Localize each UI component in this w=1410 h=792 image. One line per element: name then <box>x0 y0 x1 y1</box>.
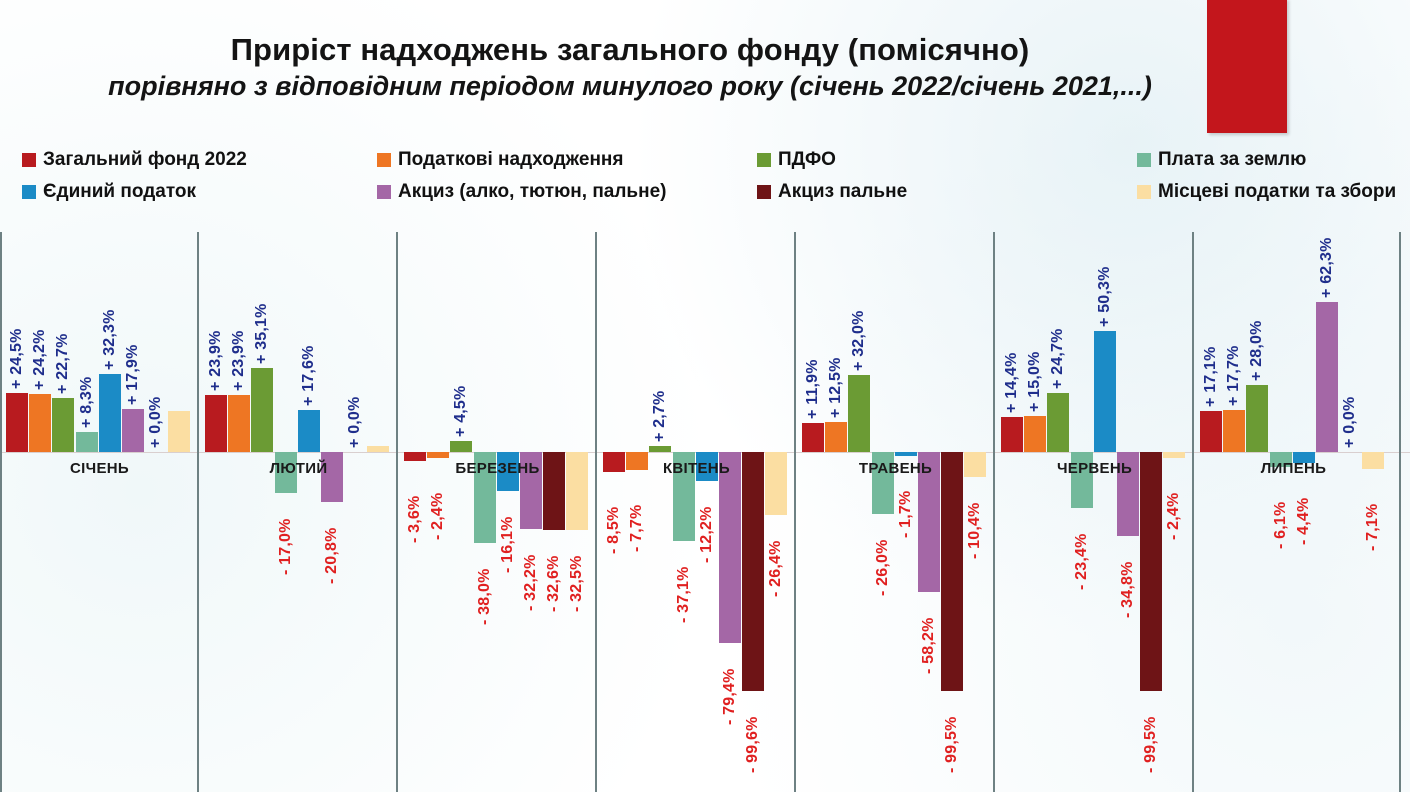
bar-value-label: + 32,3% <box>101 292 119 370</box>
legend-swatch-icon <box>22 185 36 199</box>
bar-value-label: - 26,4% <box>767 519 785 597</box>
page-title: Приріст надходжень загального фонду (пом… <box>0 34 1260 67</box>
bar-value-label: + 11,9% <box>804 341 822 419</box>
bar-slot: - 26,4% <box>765 215 787 792</box>
bar-slot: - 12,2% <box>696 215 718 792</box>
bar-value-label: - 37,1% <box>675 545 693 623</box>
bar-slot: - 2,4% <box>1163 215 1185 792</box>
bar-group-3: - 3,6%- 2,4%+ 4,5%- 38,0%- 16,1%- 32,2%-… <box>398 215 597 792</box>
bar-slot: - 4,4% <box>1293 215 1315 792</box>
bar-group-7: + 17,1%+ 17,7%+ 28,0%- 6,1%- 4,4%+ 62,3%… <box>1194 215 1393 792</box>
bar[interactable] <box>1001 417 1023 452</box>
bar-value-label: + 2,7% <box>651 364 669 442</box>
bar-slot: + 8,3% <box>76 215 98 792</box>
bar-value-label: - 12,2% <box>698 485 716 563</box>
chart-titles: Приріст надходжень загального фонду (пом… <box>0 34 1260 100</box>
bar-value-label: + 24,7% <box>1049 311 1067 389</box>
chart-legend: Загальний фонд 2022 Податкові надходженн… <box>22 144 1397 208</box>
bar[interactable] <box>1316 302 1338 452</box>
bar-value-label: + 24,5% <box>8 311 26 389</box>
bar[interactable] <box>1163 452 1185 458</box>
bar-value-label: + 32,0% <box>850 293 868 371</box>
legend-item-yedynyi-podatok[interactable]: Єдиний податок <box>22 181 377 203</box>
bar-slot: + 17,7% <box>1223 215 1245 792</box>
bar-slot: + 24,7% <box>1047 215 1069 792</box>
bar-value-label: - 99,5% <box>1142 695 1160 773</box>
legend-item-plata-za-zemlyu[interactable]: Плата за землю <box>1137 149 1377 171</box>
bar-slot: + 35,1% <box>251 215 273 792</box>
bar[interactable] <box>719 452 741 643</box>
legend-row-bottom: Єдиний податок Акциз (алко, тютюн, пальн… <box>22 176 1397 208</box>
bar-slot: - 20,8% <box>321 215 343 792</box>
bar-value-label: + 35,1% <box>253 286 271 364</box>
bar-slot: - 17,0% <box>275 215 297 792</box>
bar[interactable] <box>1047 393 1069 452</box>
bar-value-label: + 17,6% <box>300 328 318 406</box>
bar-slot: - 1,7% <box>895 215 917 792</box>
bar-slot: + 28,0% <box>1246 215 1268 792</box>
month-label-2: ЛЮТИЙ <box>199 460 398 477</box>
bar-slot: + 15,0% <box>1024 215 1046 792</box>
bar-slot: - 99,6% <box>742 215 764 792</box>
legend-swatch-icon <box>757 185 771 199</box>
bar-slot: - 2,4% <box>427 215 449 792</box>
bar[interactable] <box>6 393 28 452</box>
bar-slot: - 26,0% <box>872 215 894 792</box>
legend-label: Місцеві податки та збори <box>1158 181 1396 203</box>
bar-slot: - 32,2% <box>520 215 542 792</box>
bar[interactable] <box>1246 385 1268 452</box>
bar-slot: + 22,7% <box>52 215 74 792</box>
bar-value-label: + 0,0% <box>1341 370 1359 448</box>
bar-slot: - 99,5% <box>941 215 963 792</box>
bar-slot: - 7,1% <box>1362 215 1384 792</box>
bar[interactable] <box>99 374 121 452</box>
bar-slot: + 11,9% <box>802 215 824 792</box>
bar-value-label: + 22,7% <box>54 316 72 394</box>
bar-value-label: - 34,8% <box>1119 540 1137 618</box>
bar-slot: + 24,5% <box>6 215 28 792</box>
bar-value-label: + 50,3% <box>1096 249 1114 327</box>
bar-value-label: + 12,5% <box>827 340 845 418</box>
bar-slot: + 12,5% <box>825 215 847 792</box>
legend-label: ПДФО <box>778 149 836 171</box>
bar-slot: - 79,4% <box>719 215 741 792</box>
bar-slot: + 32,3% <box>99 215 121 792</box>
bar-slot: + 14,4% <box>1001 215 1023 792</box>
bar-slot: - 8,5% <box>603 215 625 792</box>
bar-value-label: + 62,3% <box>1318 220 1336 298</box>
bar[interactable] <box>848 375 870 452</box>
legend-swatch-icon <box>1137 153 1151 167</box>
bar-value-label: - 38,0% <box>476 547 494 625</box>
bar[interactable] <box>52 398 74 452</box>
bar-value-label: + 0,0% <box>346 370 364 448</box>
bar-value-label: + 8,3% <box>78 350 96 428</box>
legend-swatch-icon <box>377 185 391 199</box>
bar[interactable] <box>742 452 764 691</box>
bar-value-label: - 99,5% <box>943 695 961 773</box>
legend-label: Єдиний податок <box>43 181 196 203</box>
month-label-6: ЧЕРВЕНЬ <box>995 460 1194 477</box>
bar-slot: + 0,0% <box>1339 215 1361 792</box>
bar-value-label: - 32,6% <box>545 534 563 612</box>
bar-value-label: - 8,5% <box>605 476 623 554</box>
bar[interactable] <box>450 441 472 452</box>
bar-slot: - 38,0% <box>474 215 496 792</box>
bar[interactable] <box>427 452 449 458</box>
bar-value-label: - 7,1% <box>1364 473 1382 551</box>
bar[interactable] <box>298 410 320 452</box>
legend-row-top: Загальний фонд 2022 Податкові надходженн… <box>22 144 1397 176</box>
bar-slot: + 0,0% <box>344 215 366 792</box>
bar[interactable] <box>168 411 190 452</box>
legend-item-akcyz-alko[interactable]: Акциз (алко, тютюн, пальне) <box>377 181 757 203</box>
bar[interactable] <box>1140 452 1162 691</box>
bar-slot: - 34,8% <box>1117 215 1139 792</box>
bar-value-label: + 15,0% <box>1026 334 1044 412</box>
bar[interactable] <box>1024 416 1046 452</box>
bar[interactable] <box>941 452 963 691</box>
legend-label: Загальний фонд 2022 <box>43 149 247 171</box>
bar-slot: - 3,6% <box>404 215 426 792</box>
bar[interactable] <box>1094 331 1116 452</box>
month-label-5: ТРАВЕНЬ <box>796 460 995 477</box>
bar[interactable] <box>895 452 917 456</box>
bar-group-4: - 8,5%- 7,7%+ 2,7%- 37,1%- 12,2%- 79,4%-… <box>597 215 796 792</box>
bar-value-label: - 23,4% <box>1073 512 1091 590</box>
bar[interactable] <box>649 446 671 452</box>
bar-value-label: + 14,4% <box>1003 335 1021 413</box>
bar[interactable] <box>825 422 847 452</box>
bar-slot: - 23,4% <box>1071 215 1093 792</box>
month-label-3: БЕРЕЗЕНЬ <box>398 460 597 477</box>
bar-value-label: - 7,7% <box>628 474 646 552</box>
legend-item-pdfo[interactable]: ПДФО <box>757 149 1137 171</box>
page-subtitle: порівняно з відповідним періодом минулог… <box>0 72 1260 101</box>
bar-value-label: + 4,5% <box>452 359 470 437</box>
legend-swatch-icon <box>1137 185 1151 199</box>
bar[interactable] <box>367 446 389 452</box>
bar-value-label: - 58,2% <box>920 596 938 674</box>
bar-slot: + 23,9% <box>205 215 227 792</box>
bar-value-label: - 32,2% <box>522 533 540 611</box>
bar[interactable] <box>1200 411 1222 452</box>
bar[interactable] <box>1223 410 1245 452</box>
legend-swatch-icon <box>377 153 391 167</box>
legend-label: Плата за землю <box>1158 149 1306 171</box>
bar-value-label: - 99,6% <box>744 695 762 773</box>
bar-slot: - 7,7% <box>626 215 648 792</box>
bar-value-label: - 17,0% <box>277 497 295 575</box>
legend-label: Акциз пальне <box>778 181 907 203</box>
bar-value-label: - 32,5% <box>568 534 586 612</box>
group-separator-line <box>1399 232 1401 792</box>
bar[interactable] <box>76 432 98 452</box>
bar-group-6: + 14,4%+ 15,0%+ 24,7%- 23,4%+ 50,3%- 34,… <box>995 215 1194 792</box>
legend-label: Податкові надходження <box>398 149 624 171</box>
bar-value-label: - 20,8% <box>323 506 341 584</box>
bar[interactable] <box>29 394 51 452</box>
bar-slot: + 4,5% <box>450 215 472 792</box>
bar-group-1: + 24,5%+ 24,2%+ 22,7%+ 8,3%+ 32,3%+ 17,9… <box>0 215 199 792</box>
legend-swatch-icon <box>757 153 771 167</box>
bar-slot: + 2,7% <box>649 215 671 792</box>
bar-value-label: + 23,9% <box>207 313 225 391</box>
legend-swatch-icon <box>22 153 36 167</box>
bar-value-label: - 16,1% <box>499 495 517 573</box>
legend-item-akcyz-palne[interactable]: Акциз пальне <box>757 181 1137 203</box>
bar-slot: + 32,0% <box>848 215 870 792</box>
bar-slot <box>168 215 190 792</box>
bar-value-label: + 17,7% <box>1225 328 1243 406</box>
bar-slot: + 24,2% <box>29 215 51 792</box>
bar-slot: - 32,6% <box>543 215 565 792</box>
bar-slot: + 17,1% <box>1200 215 1222 792</box>
bar-value-label: + 28,0% <box>1248 303 1266 381</box>
bar-value-label: - 79,4% <box>721 647 739 725</box>
bar-slot: + 23,9% <box>228 215 250 792</box>
bar-slot: + 62,3% <box>1316 215 1338 792</box>
bar-value-label: + 17,9% <box>124 327 142 405</box>
bar-value-label: + 0,0% <box>147 370 165 448</box>
bar-group-2: + 23,9%+ 23,9%+ 35,1%- 17,0%+ 17,6%- 20,… <box>199 215 398 792</box>
legend-item-podatkovi-nadhodzhennya[interactable]: Податкові надходження <box>377 149 757 171</box>
bar-slot: - 37,1% <box>673 215 695 792</box>
bar[interactable] <box>228 395 250 452</box>
month-label-1: СІЧЕНЬ <box>0 460 199 477</box>
month-label-4: КВІТЕНЬ <box>597 460 796 477</box>
bar-slot: - 58,2% <box>918 215 940 792</box>
bar-value-label: - 26,0% <box>874 518 892 596</box>
legend-item-miscevi-podatky[interactable]: Місцеві податки та збори <box>1137 181 1377 203</box>
bar[interactable] <box>205 395 227 452</box>
bar[interactable] <box>251 368 273 452</box>
month-label-7: ЛИПЕНЬ <box>1194 460 1393 477</box>
bar-value-label: + 24,2% <box>31 312 49 390</box>
bar-value-label: - 4,4% <box>1295 467 1313 545</box>
bar-slot: - 10,4% <box>964 215 986 792</box>
bar-value-label: - 10,4% <box>966 481 984 559</box>
bar-slot <box>367 215 389 792</box>
bar-group-5: + 11,9%+ 12,5%+ 32,0%- 26,0%- 1,7%- 58,2… <box>796 215 995 792</box>
legend-item-zagalnyi-fond[interactable]: Загальний фонд 2022 <box>22 149 377 171</box>
bar-slot: - 99,5% <box>1140 215 1162 792</box>
bar-slot: + 17,9% <box>122 215 144 792</box>
legend-label: Акциз (алко, тютюн, пальне) <box>398 181 667 203</box>
bar-slot: - 16,1% <box>497 215 519 792</box>
bar-slot: - 32,5% <box>566 215 588 792</box>
bar-value-label: + 17,1% <box>1202 329 1220 407</box>
bar-slot: + 17,6% <box>298 215 320 792</box>
bar-chart-plot-area: + 24,5%+ 24,2%+ 22,7%+ 8,3%+ 32,3%+ 17,9… <box>0 215 1410 792</box>
bar-slot: - 6,1% <box>1270 215 1292 792</box>
bar[interactable] <box>122 409 144 452</box>
bar-value-label: - 6,1% <box>1272 471 1290 549</box>
bar-slot: + 0,0% <box>145 215 167 792</box>
bar[interactable] <box>802 423 824 452</box>
bar-value-label: + 23,9% <box>230 313 248 391</box>
bar-slot: + 50,3% <box>1094 215 1116 792</box>
